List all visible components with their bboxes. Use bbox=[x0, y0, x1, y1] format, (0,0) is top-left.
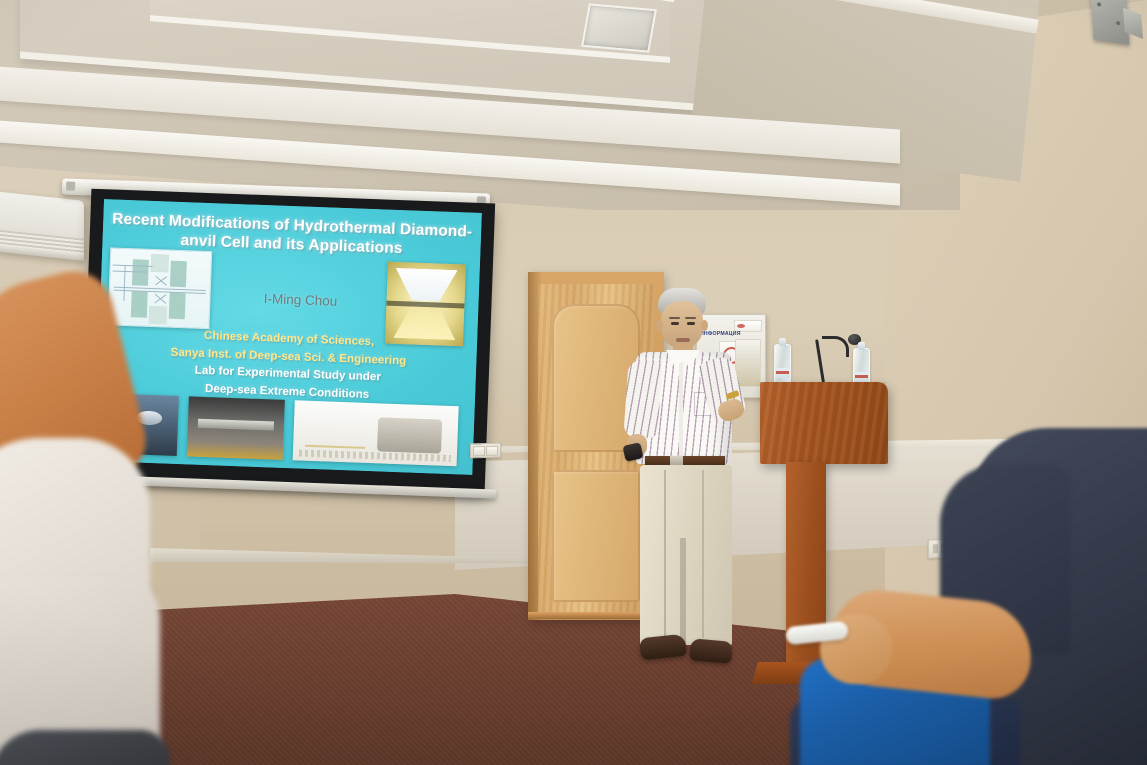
presenter-shirt-placket bbox=[679, 360, 683, 456]
air-conditioner bbox=[0, 191, 84, 260]
presenter-shoe bbox=[639, 634, 687, 661]
presenter-ear bbox=[701, 320, 708, 331]
presenter-eyebrow bbox=[685, 317, 696, 319]
foreground-person-left bbox=[0, 278, 200, 765]
water-bottle bbox=[774, 344, 791, 386]
microphone-gooseneck bbox=[822, 336, 849, 357]
slide-apparatus-diagram-3 bbox=[293, 400, 459, 466]
presenter-eye bbox=[671, 322, 679, 325]
presenter-eye bbox=[687, 322, 695, 325]
presenter-mouth bbox=[676, 338, 690, 342]
presenter-trousers bbox=[640, 465, 732, 645]
ceiling bbox=[0, 0, 1147, 210]
presenter-left-arm bbox=[623, 359, 662, 439]
slide-diamond-image bbox=[385, 262, 466, 347]
ceiling-vent-icon bbox=[581, 3, 657, 52]
door-shadow bbox=[528, 272, 542, 620]
presenter-shoe bbox=[689, 638, 733, 664]
ceiling-vent-icon bbox=[596, 0, 682, 2]
presentation-room-photo: Recent Modifications of Hydrothermal Dia… bbox=[0, 0, 1147, 765]
trouser-crease bbox=[702, 470, 704, 638]
presenter bbox=[618, 288, 758, 666]
foreground-person-right bbox=[790, 418, 1147, 765]
wall-bracket-icon bbox=[1090, 0, 1129, 45]
light-switch[interactable] bbox=[470, 443, 501, 459]
trouser-leg-gap bbox=[680, 538, 686, 646]
trouser-crease bbox=[664, 470, 666, 638]
foreground-left-lap bbox=[0, 730, 170, 765]
presenter-eyebrow bbox=[669, 317, 680, 319]
presenter-ear bbox=[656, 320, 663, 331]
slide-apparatus-photo-2 bbox=[187, 396, 285, 459]
